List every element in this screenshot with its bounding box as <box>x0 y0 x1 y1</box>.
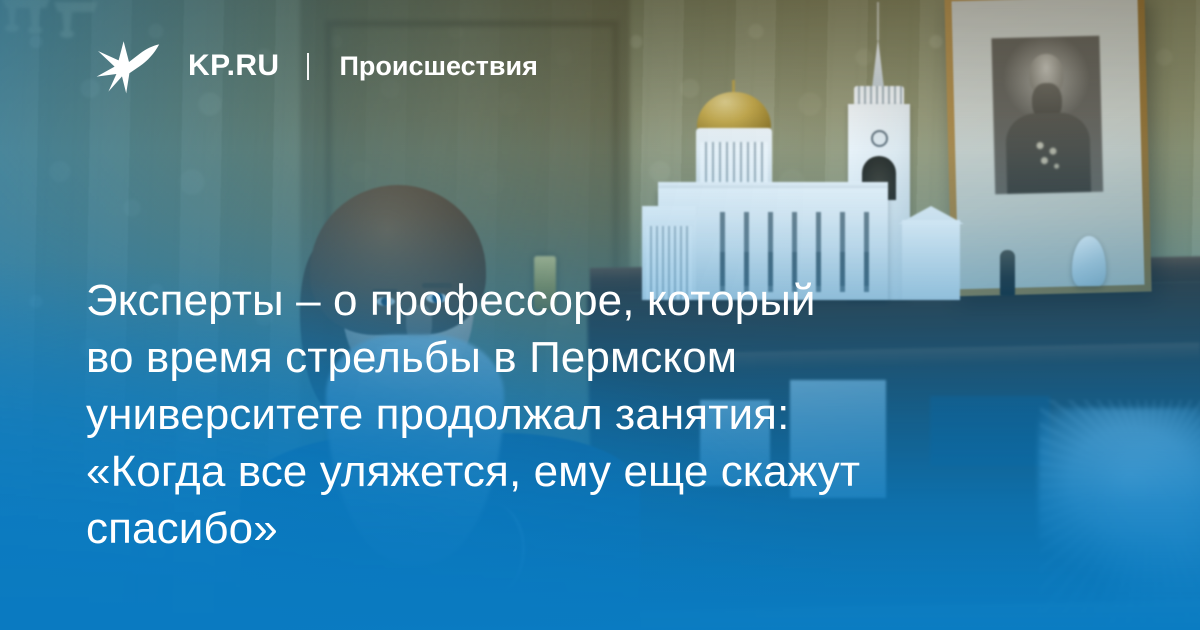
header-divider <box>307 53 309 80</box>
section-name[interactable]: Происшествия <box>339 53 537 80</box>
headline-line-5: спасибо» <box>86 500 1046 557</box>
headline-line-3: университете продолжал занятия: <box>86 386 1046 443</box>
headline-line-1: Эксперты – о профессоре, который <box>86 272 1046 329</box>
header-bar: KP.RU Происшествия <box>96 38 538 94</box>
headline: Эксперты – о профессоре, который во врем… <box>86 272 1046 557</box>
headline-line-2: во время стрельбы в Пермском <box>86 329 1046 386</box>
share-card: KP.RU Происшествия Эксперты – о профессо… <box>0 0 1200 630</box>
swallow-bird-logo-icon[interactable] <box>96 38 160 94</box>
brand-name[interactable]: KP.RU <box>188 51 279 81</box>
headline-line-4: «Когда все уляжется, ему еще скажут <box>86 443 1046 500</box>
